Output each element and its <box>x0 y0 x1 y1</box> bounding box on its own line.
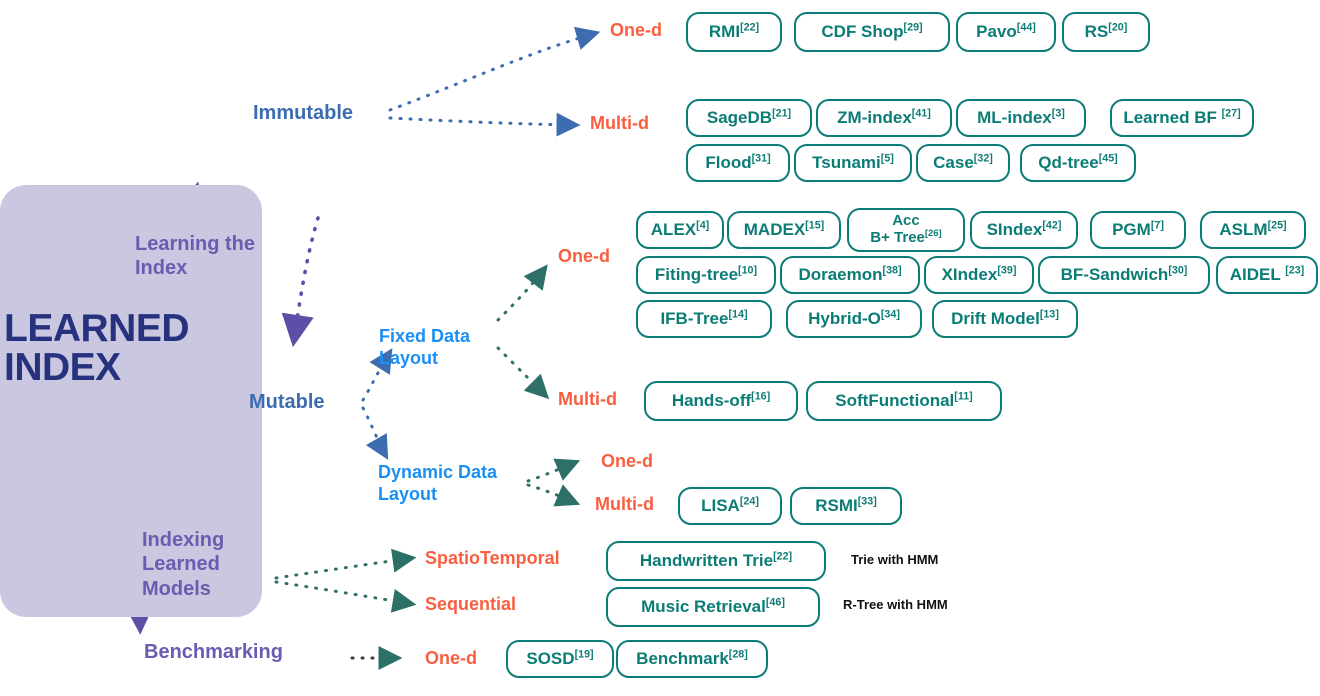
node-drift-model[interactable]: Drift Model[13] <box>932 300 1078 338</box>
node-cdf-shop[interactable]: CDF Shop[29] <box>794 12 950 52</box>
node-sindex[interactable]: SIndex[42] <box>970 211 1078 249</box>
node-acc-b-plus-tree[interactable]: AccB+ Tree[26] <box>847 208 965 252</box>
node-benchmark[interactable]: Benchmark[28] <box>616 640 768 678</box>
node-softfunctional[interactable]: SoftFunctional[11] <box>806 381 1002 421</box>
branch-benchmarking[interactable]: Benchmarking <box>144 640 283 664</box>
node-aidel[interactable]: AIDEL [23] <box>1216 256 1318 294</box>
node-hybrid-o[interactable]: Hybrid-O[34] <box>786 300 922 338</box>
node-tsunami[interactable]: Tsunami[5] <box>794 144 912 182</box>
node-flood[interactable]: Flood[31] <box>686 144 790 182</box>
node-zm-index[interactable]: ZM-index[41] <box>816 99 952 137</box>
node-fiting-tree[interactable]: Fiting-tree[10] <box>636 256 776 294</box>
dimension-immutable-multi-d[interactable]: Multi-d <box>590 113 649 134</box>
node-music-retrieval[interactable]: Music Retrieval[46] <box>606 587 820 627</box>
branch-indexing-learned-models[interactable]: Indexing Learned Models <box>142 528 224 601</box>
node-sosd[interactable]: SOSD[19] <box>506 640 614 678</box>
node-madex[interactable]: MADEX[15] <box>727 211 841 249</box>
node-learned-bf[interactable]: Learned BF [27] <box>1110 99 1254 137</box>
node-pgm[interactable]: PGM[7] <box>1090 211 1186 249</box>
node-rs[interactable]: RS[20] <box>1062 12 1150 52</box>
node-ifb-tree[interactable]: IFB-Tree[14] <box>636 300 772 338</box>
taxonomy-diagram: LEARNED INDEX Learning the Index Indexin… <box>0 0 1320 696</box>
dimension-sequential[interactable]: Sequential <box>425 594 516 615</box>
dimension-fixed-multi-d[interactable]: Multi-d <box>558 389 617 410</box>
node-doraemon[interactable]: Doraemon[38] <box>780 256 920 294</box>
node-handwritten-trie[interactable]: Handwritten Trie[22] <box>606 541 826 581</box>
category-mutable[interactable]: Mutable <box>249 390 325 414</box>
node-case[interactable]: Case[32] <box>916 144 1010 182</box>
dimension-spatio-temporal[interactable]: SpatioTemporal <box>425 548 560 569</box>
node-hands-off[interactable]: Hands-off[16] <box>644 381 798 421</box>
dimension-dynamic-one-d[interactable]: One-d <box>601 451 653 472</box>
root-title: LEARNED INDEX <box>4 310 234 387</box>
dimension-benchmarking-one-d[interactable]: One-d <box>425 648 477 669</box>
node-aslm[interactable]: ASLM[25] <box>1200 211 1306 249</box>
dimension-fixed-one-d[interactable]: One-d <box>558 246 610 267</box>
branch-learning-the-index[interactable]: Learning the Index <box>135 232 255 281</box>
dimension-immutable-one-d[interactable]: One-d <box>610 20 662 41</box>
dimension-dynamic-multi-d[interactable]: Multi-d <box>595 494 654 515</box>
note-rtree-with-hmm: R-Tree with HMM <box>843 597 948 612</box>
node-lisa[interactable]: LISA[24] <box>678 487 782 525</box>
node-qd-tree[interactable]: Qd-tree[45] <box>1020 144 1136 182</box>
node-bf-sandwich[interactable]: BF-Sandwich[30] <box>1038 256 1210 294</box>
node-sagedb[interactable]: SageDB[21] <box>686 99 812 137</box>
node-ml-index[interactable]: ML-index[3] <box>956 99 1086 137</box>
category-immutable[interactable]: Immutable <box>253 101 353 125</box>
node-rmi[interactable]: RMI[22] <box>686 12 782 52</box>
note-trie-with-hmm: Trie with HMM <box>851 552 938 567</box>
node-xindex[interactable]: XIndex[39] <box>924 256 1034 294</box>
category-dynamic-data-layout[interactable]: Dynamic Data Layout <box>378 462 497 506</box>
node-rsmi[interactable]: RSMI[33] <box>790 487 902 525</box>
node-alex[interactable]: ALEX[4] <box>636 211 724 249</box>
category-fixed-data-layout[interactable]: Fixed Data Layout <box>379 326 470 370</box>
node-pavo[interactable]: Pavo[44] <box>956 12 1056 52</box>
